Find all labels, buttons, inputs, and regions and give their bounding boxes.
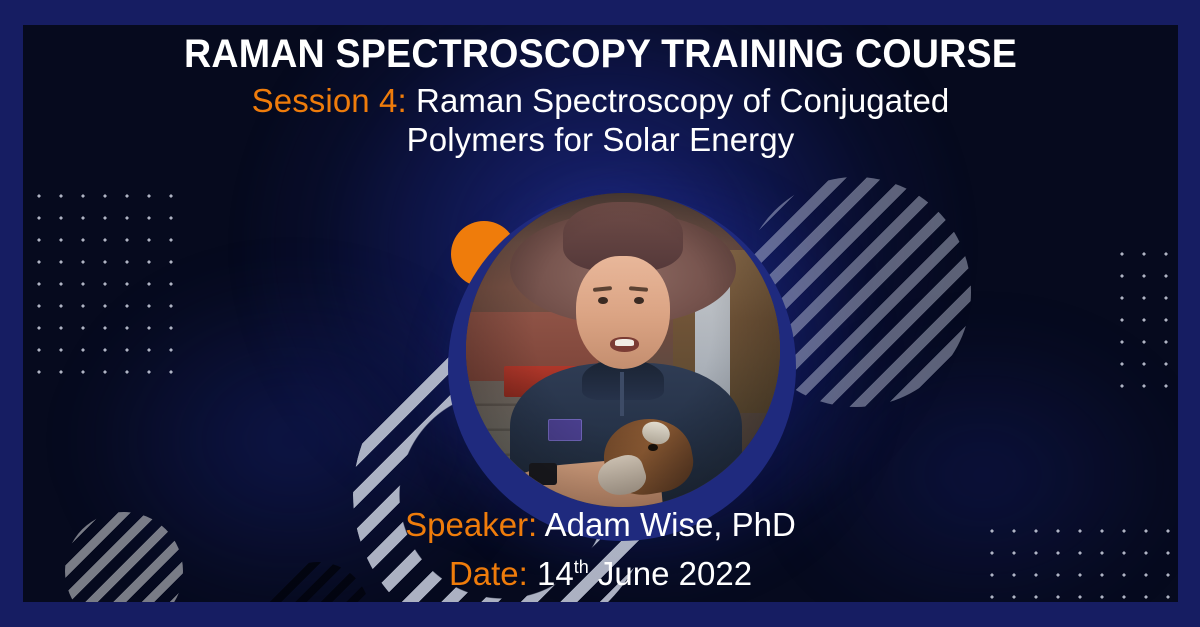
date-day-suffix: th <box>574 557 589 577</box>
event-details: Speaker: Adam Wise, PhD Date: 14th June … <box>23 503 1178 595</box>
speaker-name: Adam Wise, PhD <box>545 506 796 543</box>
webinar-banner: RAMAN SPECTROSCOPY TRAINING COURSE Sessi… <box>0 0 1200 627</box>
text-layer: RAMAN SPECTROSCOPY TRAINING COURSE Sessi… <box>23 25 1178 602</box>
speaker-label: Speaker: <box>405 506 537 543</box>
session-subtitle: Session 4: Raman Spectroscopy of Conjuga… <box>23 81 1178 159</box>
session-topic-line2: Polymers for Solar Energy <box>407 121 795 158</box>
date-line: Date: 14th June 2022 <box>23 546 1178 595</box>
course-title: RAMAN SPECTROSCOPY TRAINING COURSE <box>58 32 1144 77</box>
date-label: Date: <box>449 555 528 592</box>
speaker-line: Speaker: Adam Wise, PhD <box>23 503 1178 546</box>
date-rest: June 2022 <box>598 555 752 592</box>
banner-stage: RAMAN SPECTROSCOPY TRAINING COURSE Sessi… <box>23 25 1178 602</box>
session-label: Session 4: <box>252 82 407 119</box>
date-day: 14 <box>537 555 574 592</box>
session-topic-line1: Raman Spectroscopy of Conjugated <box>416 82 949 119</box>
